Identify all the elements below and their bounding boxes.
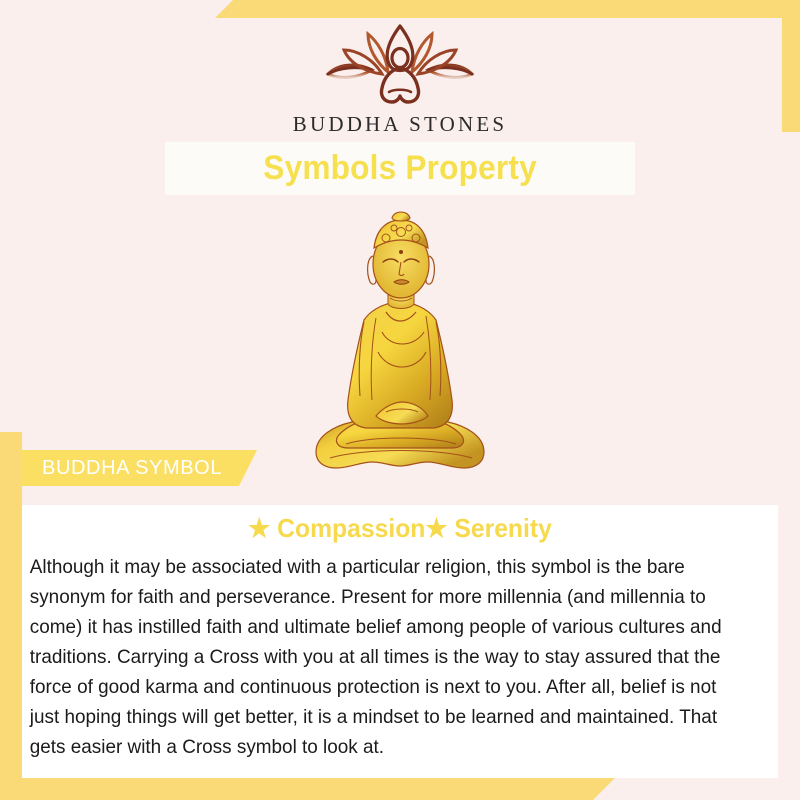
brand-wordmark: BUDDHA STONES (0, 112, 800, 137)
decor-frame-left (0, 432, 22, 780)
content-subtitle: ★ Compassion★ Serenity (41, 505, 759, 544)
decor-frame-bottom (0, 778, 615, 800)
infographic-page: BUDDHA STONES Symbols Property (0, 0, 800, 800)
page-title: Symbols Property (263, 149, 537, 188)
lotus-meditation-figure-icon (320, 22, 480, 108)
golden-buddha-statue-icon (290, 200, 510, 490)
decor-frame-top (215, 0, 800, 18)
content-card: ★ Compassion★ Serenity Although it may b… (22, 505, 778, 778)
content-paragraph: Although it may be associated with a par… (22, 544, 755, 762)
brand-logo-block: BUDDHA STONES (0, 22, 800, 137)
section-tag-buddha-symbol: BUDDHA SYMBOL (22, 450, 257, 486)
title-banner: Symbols Property (165, 142, 635, 195)
section-tag-label: BUDDHA SYMBOL (22, 457, 222, 480)
hero-image (290, 200, 510, 490)
